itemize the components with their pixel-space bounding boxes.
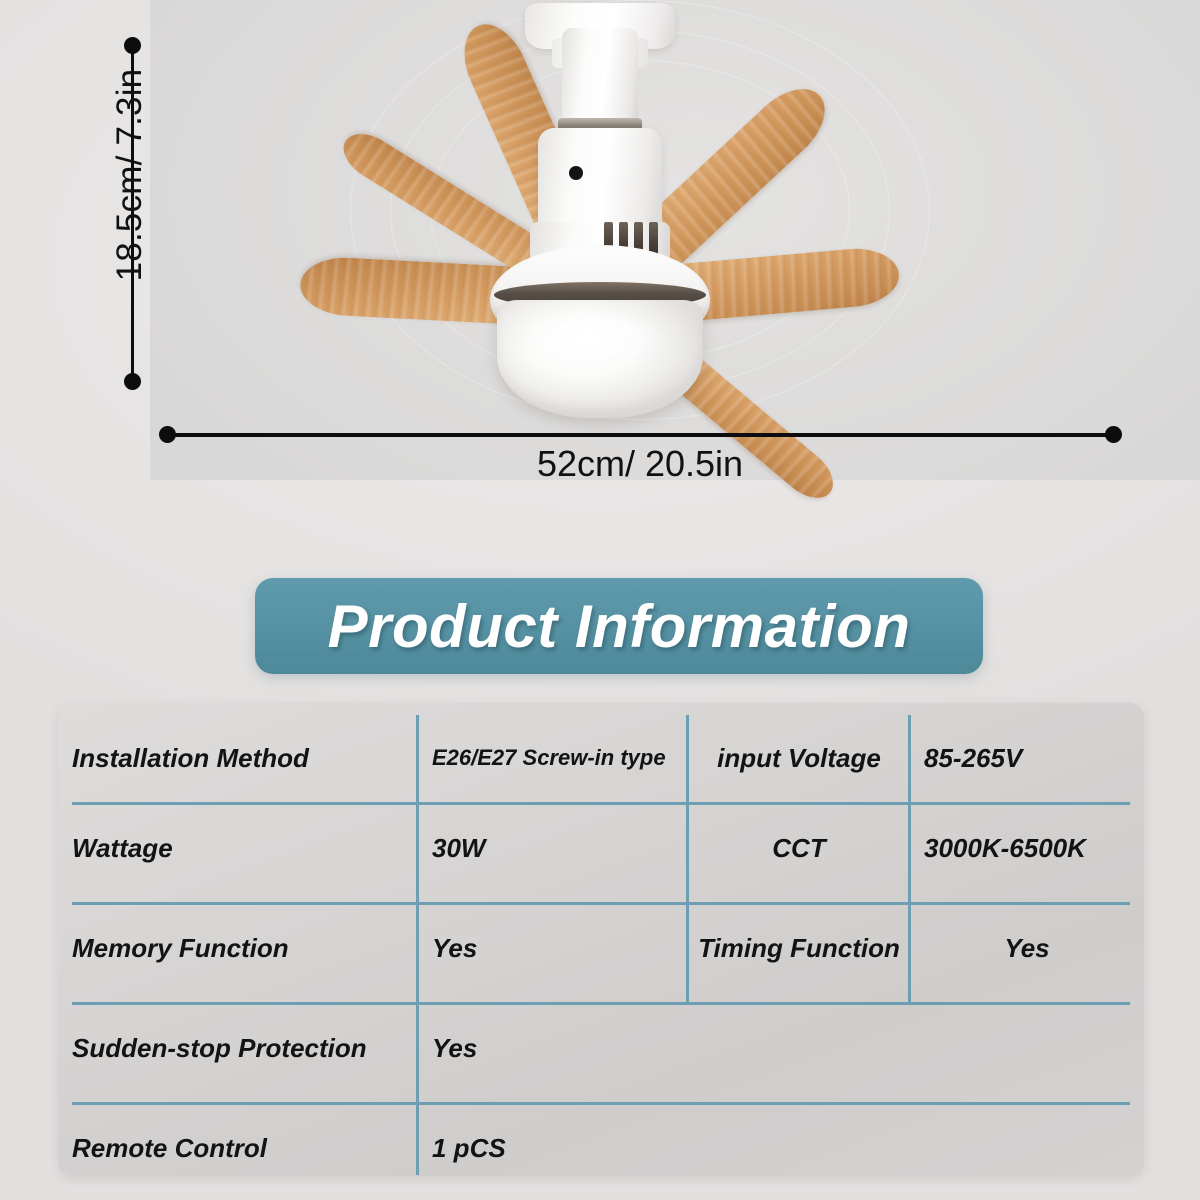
spec-value: Yes: [418, 911, 688, 985]
spec-value: Yes: [418, 1011, 688, 1085]
table-row: Installation Method E26/E27 Screw-in typ…: [58, 721, 1144, 795]
table-hline: [72, 802, 1130, 805]
table-vline: [686, 715, 689, 1003]
table-row: Memory Function Yes Timing Function Yes: [58, 911, 1144, 985]
table-row: Sudden-stop Protection Yes: [58, 1011, 1144, 1085]
table-row: Remote Control 1 pCS: [58, 1111, 1144, 1176]
spec-label: Timing Function: [688, 911, 910, 985]
spec-value: Yes: [910, 911, 1144, 985]
width-dimension-endpoint-right: [1105, 426, 1122, 443]
width-dimension-endpoint-left: [159, 426, 176, 443]
page-background: 18.5cm/ 7.3in 52cm/ 20.5in Product Infor…: [0, 0, 1200, 1200]
product-information-banner: Product Information: [255, 578, 983, 674]
spec-label: CCT: [688, 811, 910, 885]
table-vline: [908, 715, 911, 1003]
spec-label: Wattage: [58, 811, 418, 885]
spec-label: Installation Method: [58, 721, 418, 795]
table-hline: [72, 902, 1130, 905]
spec-label: input Voltage: [688, 721, 910, 795]
product-photo: 18.5cm/ 7.3in 52cm/ 20.5in: [0, 0, 1200, 520]
spec-value: E26/E27 Screw-in type: [418, 721, 688, 795]
width-dimension-label: 52cm/ 20.5in: [166, 443, 1114, 485]
spec-label: Memory Function: [58, 911, 418, 985]
height-dimension-endpoint-bottom: [124, 373, 141, 390]
table-vline: [416, 715, 419, 1175]
spec-value: 85-265V: [910, 721, 1144, 795]
table-row: Wattage 30W CCT 3000K-6500K: [58, 811, 1144, 885]
spec-value: 3000K-6500K: [910, 811, 1144, 885]
table-hline: [72, 1102, 1130, 1105]
dome-highlight: [538, 318, 666, 366]
section-title: Product Information: [328, 592, 911, 661]
spec-label: Remote Control: [58, 1111, 418, 1176]
spec-value: 1 pCS: [418, 1111, 688, 1176]
spec-value: 30W: [418, 811, 688, 885]
width-dimension-line: [166, 433, 1114, 437]
table-hline: [72, 1002, 1130, 1005]
ir-sensor-icon: [569, 166, 583, 180]
product-specification-table: Installation Method E26/E27 Screw-in typ…: [58, 703, 1144, 1176]
spec-label: Sudden-stop Protection: [58, 1011, 418, 1085]
height-dimension-label: 18.5cm/ 7.3in: [110, 25, 150, 325]
